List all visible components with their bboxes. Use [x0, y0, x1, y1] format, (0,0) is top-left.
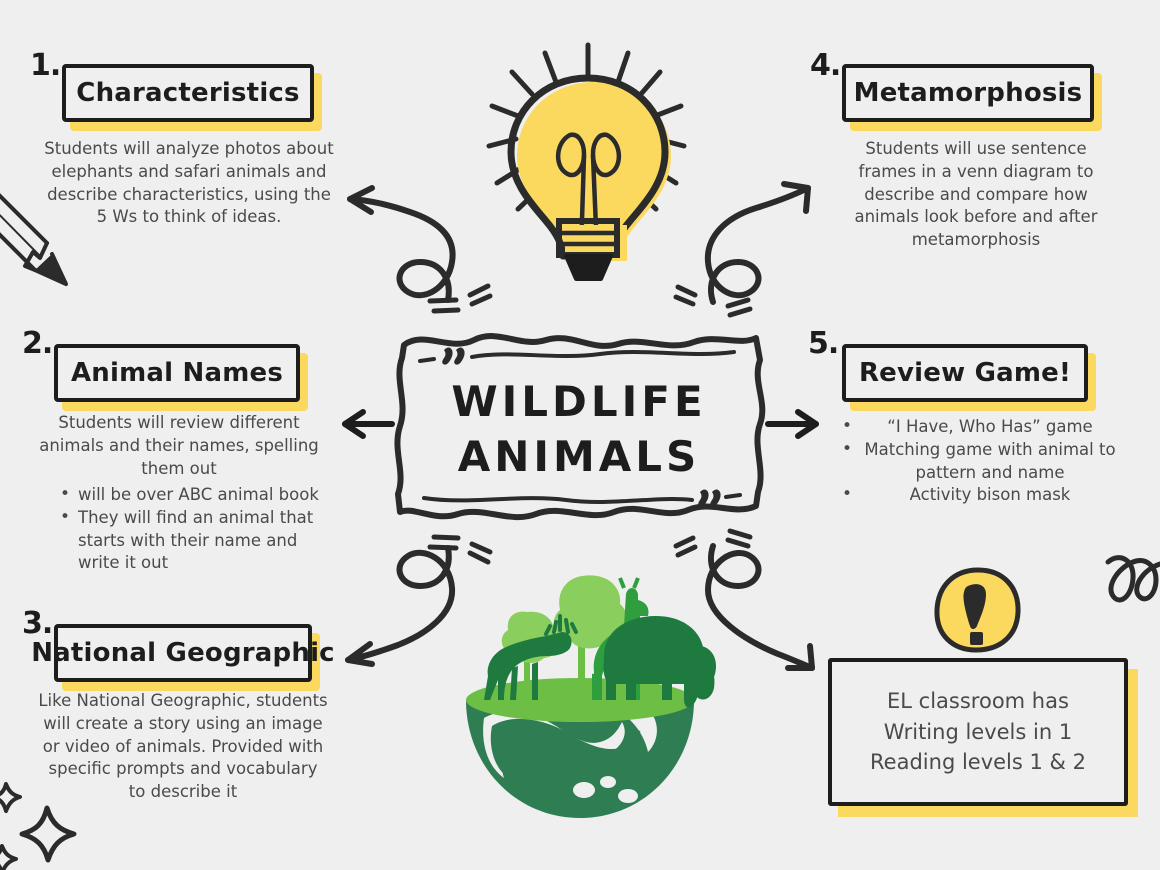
exclamation-badge-icon: [937, 570, 1018, 650]
note-box[interactable]: EL classroom has Writing levels in 1 Rea…: [828, 658, 1128, 806]
section-header-3[interactable]: National Geographic: [54, 624, 312, 682]
section-number-2: 2.: [22, 326, 52, 361]
section-number-5: 5.: [808, 326, 838, 361]
curly-arrow-down-right-icon: [676, 531, 812, 668]
section-title-5: Review Game!: [847, 358, 1083, 388]
note-line-3: Reading levels 1 & 2: [870, 747, 1086, 777]
mindmap-canvas: 1. Characteristics Students will analyze…: [0, 0, 1160, 870]
section-header-1[interactable]: Characteristics: [62, 64, 314, 122]
section-body-3: Like National Geographic, students will …: [38, 690, 328, 804]
globe-animals-icon: [466, 575, 716, 818]
list-item: They will find an animal that starts wit…: [56, 507, 330, 575]
section-number-3: 3.: [22, 606, 52, 641]
header-box[interactable]: Review Game!: [842, 344, 1088, 402]
note-line-2: Writing levels in 1: [870, 717, 1086, 747]
bullet-list: will be over ABC animal book They will f…: [56, 484, 330, 575]
section-title-4: Metamorphosis: [842, 78, 1095, 108]
list-item: “I Have, Who Has” game: [838, 416, 1116, 439]
arrow-left-icon: [345, 412, 392, 436]
section-title-3: National Geographic: [19, 638, 347, 668]
center-title: WILDLIFE ANIMALS: [393, 374, 765, 485]
section-title-2: Animal Names: [59, 358, 295, 388]
section-header-2[interactable]: Animal Names: [54, 344, 300, 402]
section-number-4: 4.: [810, 48, 840, 83]
note-inner[interactable]: EL classroom has Writing levels in 1 Rea…: [828, 658, 1128, 806]
section-header-5[interactable]: Review Game!: [842, 344, 1088, 402]
note-text: EL classroom has Writing levels in 1 Rea…: [870, 686, 1086, 777]
squiggle-icon: [1108, 558, 1160, 600]
header-box[interactable]: Metamorphosis: [842, 64, 1094, 122]
section-bullets-5: “I Have, Who Has” game Matching game wit…: [838, 414, 1116, 507]
section-header-4[interactable]: Metamorphosis: [842, 64, 1094, 122]
bullet-list: “I Have, Who Has” game Matching game wit…: [838, 416, 1116, 507]
list-item: Matching game with animal to pattern and…: [838, 439, 1116, 485]
header-box[interactable]: Animal Names: [54, 344, 300, 402]
curly-arrow-up-left-icon: [350, 188, 490, 311]
center-title-line1: WILDLIFE: [393, 374, 765, 429]
section-body-2: Students will review different animals a…: [38, 412, 320, 480]
section-bullets-2: will be over ABC animal book They will f…: [56, 482, 330, 575]
section-number-1: 1.: [30, 48, 60, 83]
list-item: Activity bison mask: [838, 484, 1116, 507]
center-concept-box[interactable]: WILDLIFE ANIMALS: [393, 328, 765, 518]
lightbulb-icon: [489, 45, 684, 279]
header-box[interactable]: Characteristics: [62, 64, 314, 122]
header-box[interactable]: National Geographic: [54, 624, 312, 682]
note-line-1: EL classroom has: [870, 686, 1086, 716]
section-body-1: Students will analyze photos about eleph…: [44, 138, 334, 229]
arrow-right-icon: [768, 412, 816, 436]
curly-arrow-up-right-icon: [676, 184, 808, 315]
center-title-line2: ANIMALS: [393, 429, 765, 484]
section-body-4: Students will use sentence frames in a v…: [842, 138, 1110, 252]
section-title-1: Characteristics: [64, 78, 311, 108]
list-item: will be over ABC animal book: [56, 484, 330, 507]
curly-arrow-down-left-icon: [348, 537, 490, 664]
